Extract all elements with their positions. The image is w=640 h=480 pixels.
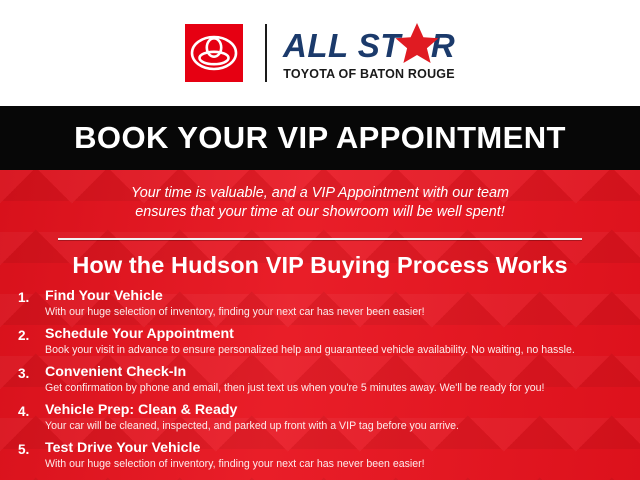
list-item: 1. Find Your Vehicle With our huge selec…	[0, 288, 640, 326]
headline-banner: BOOK YOUR VIP APPOINTMENT	[0, 106, 640, 170]
step-description: With our huge selection of inventory, fi…	[45, 305, 640, 319]
step-description: Book your visit in advance to ensure per…	[45, 343, 640, 357]
tagline-line-2: ensures that your time at our showroom w…	[0, 203, 640, 222]
step-number: 2.	[18, 326, 45, 344]
step-title: Convenient Check-In	[45, 364, 640, 381]
step-title: Test Drive Your Vehicle	[45, 440, 640, 457]
step-title: Schedule Your Appointment	[45, 326, 640, 343]
logo-divider	[265, 24, 267, 82]
toyota-emblem-icon	[185, 24, 243, 82]
body-panel: Your time is valuable, and a VIP Appoint…	[0, 170, 640, 480]
step-description: Get confirmation by phone and email, the…	[45, 381, 640, 395]
step-description: Your car will be cleaned, inspected, and…	[45, 419, 640, 433]
step-number: 4.	[18, 402, 45, 420]
dealer-logo: ALL STR TOYOTA OF BATON ROUGE	[185, 18, 455, 88]
list-item: 4. Vehicle Prep: Clean & Ready Your car …	[0, 402, 640, 440]
tagline: Your time is valuable, and a VIP Appoint…	[0, 184, 640, 222]
allstar-name-line: ALL STR	[283, 26, 455, 66]
dealer-subtitle: TOYOTA OF BATON ROUGE	[283, 67, 455, 81]
process-steps-list: 1. Find Your Vehicle With our huge selec…	[0, 288, 640, 478]
banner-title: BOOK YOUR VIP APPOINTMENT	[74, 120, 566, 156]
allstar-wordmark: ALL STR TOYOTA OF BATON ROUGE	[283, 26, 455, 81]
list-item: 3. Convenient Check-In Get confirmation …	[0, 364, 640, 402]
step-description: With our huge selection of inventory, fi…	[45, 457, 640, 471]
step-number: 1.	[18, 288, 45, 306]
step-title: Vehicle Prep: Clean & Ready	[45, 402, 640, 419]
red-star-icon	[395, 23, 439, 65]
section-title: How the Hudson VIP Buying Process Works	[0, 252, 640, 279]
logo-band: ALL STR TOYOTA OF BATON ROUGE	[0, 0, 640, 106]
divider-rule	[58, 238, 582, 240]
step-title: Find Your Vehicle	[45, 288, 640, 305]
vip-appointment-poster: ALL STR TOYOTA OF BATON ROUGE BOOK YOUR …	[0, 0, 640, 480]
list-item: 2. Schedule Your Appointment Book your v…	[0, 326, 640, 364]
step-number: 5.	[18, 440, 45, 458]
tagline-line-1: Your time is valuable, and a VIP Appoint…	[0, 184, 640, 203]
step-number: 3.	[18, 364, 45, 382]
allstar-word-all: ALL	[283, 27, 348, 64]
list-item: 5. Test Drive Your Vehicle With our huge…	[0, 440, 640, 478]
